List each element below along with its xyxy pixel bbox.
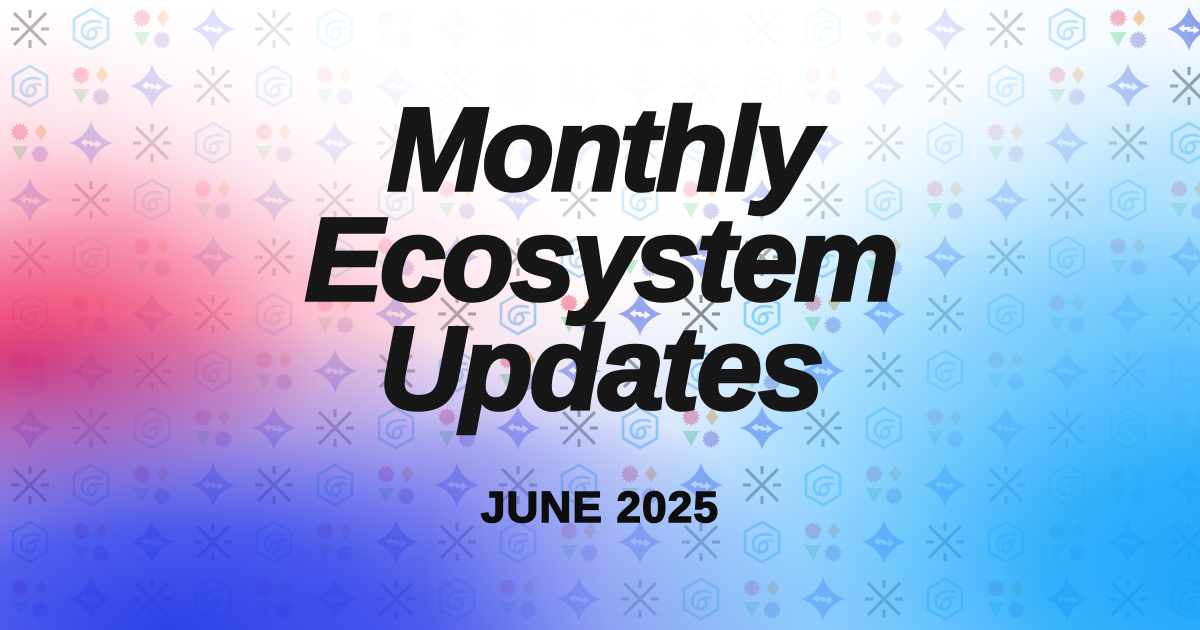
starburst-icon [921, 518, 969, 566]
starburst-icon [250, 461, 298, 509]
starburst-icon [372, 347, 420, 395]
hexagon-spiral-icon [738, 518, 786, 566]
swap-diamond-icon [311, 119, 359, 167]
flower-cluster-icon [128, 5, 176, 53]
flower-cluster-icon [67, 290, 115, 338]
flower-cluster-icon [311, 290, 359, 338]
starburst-icon [799, 176, 847, 224]
swap-diamond-icon [1043, 575, 1091, 623]
hexagon-spiral-icon [1043, 233, 1091, 281]
swap-diamond-icon [1165, 5, 1200, 53]
hexagon-spiral-icon [921, 575, 969, 623]
starburst-icon [982, 233, 1030, 281]
flower-cluster-icon [1104, 461, 1152, 509]
starburst-icon [616, 119, 664, 167]
starburst-icon [494, 5, 542, 53]
hexagon-spiral-icon [1104, 176, 1152, 224]
swap-diamond-icon [67, 119, 115, 167]
starburst-icon [6, 5, 54, 53]
hexagon-spiral-icon [799, 461, 847, 509]
starburst-icon [128, 575, 176, 623]
starburst-icon [677, 62, 725, 110]
swap-diamond-icon [67, 347, 115, 395]
flower-cluster-icon [250, 347, 298, 395]
starburst-icon [860, 119, 908, 167]
flower-cluster-icon [189, 176, 237, 224]
swap-diamond-icon [1104, 290, 1152, 338]
flower-cluster-icon [860, 461, 908, 509]
swap-diamond-icon [738, 404, 786, 452]
flower-cluster-icon [982, 347, 1030, 395]
flower-cluster-icon [555, 290, 603, 338]
starburst-icon [67, 404, 115, 452]
flower-cluster-icon [6, 119, 54, 167]
hexagon-spiral-icon [128, 176, 176, 224]
flower-cluster-icon [738, 347, 786, 395]
swap-diamond-icon [189, 5, 237, 53]
swap-diamond-icon [677, 233, 725, 281]
swap-diamond-icon [494, 176, 542, 224]
flower-cluster-icon [433, 176, 481, 224]
flower-cluster-icon [982, 119, 1030, 167]
swap-diamond-icon [250, 404, 298, 452]
starburst-icon [372, 119, 420, 167]
swap-diamond-icon [616, 62, 664, 110]
swap-diamond-icon [555, 575, 603, 623]
hexagon-spiral-icon [555, 461, 603, 509]
starburst-icon [1165, 62, 1200, 110]
swap-diamond-icon [982, 404, 1030, 452]
flower-cluster-icon [921, 404, 969, 452]
swap-diamond-icon [982, 176, 1030, 224]
hexagon-spiral-icon [67, 461, 115, 509]
flower-cluster-icon [67, 518, 115, 566]
hexagon-spiral-icon [189, 575, 237, 623]
flower-cluster-icon [372, 233, 420, 281]
starburst-icon [738, 233, 786, 281]
starburst-icon [433, 62, 481, 110]
hexagon-spiral-icon [6, 518, 54, 566]
swap-diamond-icon [433, 5, 481, 53]
hexagon-spiral-icon [311, 233, 359, 281]
starburst-icon [6, 233, 54, 281]
flower-cluster-icon [433, 404, 481, 452]
swap-diamond-icon [677, 5, 725, 53]
swap-diamond-icon [128, 518, 176, 566]
starburst-icon [616, 347, 664, 395]
hexagon-spiral-icon [6, 62, 54, 110]
starburst-icon [738, 461, 786, 509]
flower-cluster-icon [799, 290, 847, 338]
flower-cluster-icon [6, 575, 54, 623]
flower-cluster-icon [677, 404, 725, 452]
flower-cluster-icon [921, 176, 969, 224]
swap-diamond-icon [799, 575, 847, 623]
hexagon-spiral-icon [494, 62, 542, 110]
starburst-icon [982, 461, 1030, 509]
starburst-icon [250, 5, 298, 53]
hexagon-spiral-icon [799, 233, 847, 281]
starburst-icon [250, 233, 298, 281]
swap-diamond-icon [372, 290, 420, 338]
swap-diamond-icon [616, 290, 664, 338]
hexagon-spiral-icon [1165, 575, 1200, 623]
starburst-icon [1165, 290, 1200, 338]
swap-diamond-icon [311, 347, 359, 395]
hexagon-spiral-icon [67, 5, 115, 53]
starburst-icon [128, 347, 176, 395]
flower-cluster-icon [372, 461, 420, 509]
hexagon-spiral-icon [494, 290, 542, 338]
hexagon-spiral-icon [372, 404, 420, 452]
flower-cluster-icon [128, 233, 176, 281]
swap-diamond-icon [799, 347, 847, 395]
flower-cluster-icon [1043, 62, 1091, 110]
banner-canvas: Monthly Ecosystem Updates JUNE 2025 [0, 0, 1200, 630]
hexagon-spiral-icon [1104, 404, 1152, 452]
flower-cluster-icon [494, 347, 542, 395]
flower-cluster-icon [189, 404, 237, 452]
swap-diamond-icon [67, 575, 115, 623]
starburst-icon [555, 176, 603, 224]
flower-cluster-icon [799, 518, 847, 566]
flower-cluster-icon [1043, 290, 1091, 338]
swap-diamond-icon [738, 176, 786, 224]
starburst-icon [555, 404, 603, 452]
hexagon-spiral-icon [799, 5, 847, 53]
flower-cluster-icon [1165, 176, 1200, 224]
starburst-icon [372, 575, 420, 623]
swap-diamond-icon [1043, 119, 1091, 167]
flower-cluster-icon [616, 233, 664, 281]
swap-diamond-icon [677, 461, 725, 509]
hexagon-spiral-icon [250, 62, 298, 110]
flower-cluster-icon [799, 62, 847, 110]
flower-cluster-icon [311, 62, 359, 110]
starburst-icon [433, 290, 481, 338]
starburst-icon [677, 290, 725, 338]
hexagon-spiral-icon [860, 404, 908, 452]
starburst-icon [67, 176, 115, 224]
flower-cluster-icon [372, 5, 420, 53]
swap-diamond-icon [799, 119, 847, 167]
hexagon-spiral-icon [433, 347, 481, 395]
hexagon-spiral-icon [738, 290, 786, 338]
swap-diamond-icon [433, 233, 481, 281]
hexagon-spiral-icon [433, 575, 481, 623]
hexagon-spiral-icon [6, 290, 54, 338]
hexagon-spiral-icon [1165, 119, 1200, 167]
hexagon-spiral-icon [982, 62, 1030, 110]
starburst-icon [1104, 575, 1152, 623]
starburst-icon [616, 575, 664, 623]
swap-diamond-icon [921, 233, 969, 281]
starburst-icon [799, 404, 847, 452]
swap-diamond-icon [921, 5, 969, 53]
starburst-icon [311, 404, 359, 452]
flower-cluster-icon [250, 575, 298, 623]
swap-diamond-icon [250, 176, 298, 224]
flower-cluster-icon [860, 5, 908, 53]
hexagon-spiral-icon [311, 5, 359, 53]
hexagon-spiral-icon [1043, 461, 1091, 509]
hexagon-spiral-icon [189, 347, 237, 395]
swap-diamond-icon [921, 461, 969, 509]
flower-cluster-icon [67, 62, 115, 110]
flower-cluster-icon [250, 119, 298, 167]
hexagon-spiral-icon [982, 290, 1030, 338]
flower-cluster-icon [1165, 404, 1200, 452]
starburst-icon [189, 518, 237, 566]
hexagon-spiral-icon [372, 176, 420, 224]
starburst-icon [433, 518, 481, 566]
hexagon-spiral-icon [433, 119, 481, 167]
swap-diamond-icon [372, 518, 420, 566]
hexagon-spiral-icon [189, 119, 237, 167]
hexagon-spiral-icon [311, 461, 359, 509]
hexagon-spiral-icon [677, 347, 725, 395]
flower-cluster-icon [1104, 233, 1152, 281]
swap-diamond-icon [128, 290, 176, 338]
starburst-icon [1043, 404, 1091, 452]
starburst-icon [1043, 176, 1091, 224]
flower-cluster-icon [555, 62, 603, 110]
flower-cluster-icon [738, 119, 786, 167]
flower-cluster-icon [128, 461, 176, 509]
hexagon-spiral-icon [738, 62, 786, 110]
hexagon-spiral-icon [1165, 347, 1200, 395]
swap-diamond-icon [860, 290, 908, 338]
swap-diamond-icon [1104, 518, 1152, 566]
starburst-icon [1104, 119, 1152, 167]
starburst-icon [189, 62, 237, 110]
hexagon-spiral-icon [494, 518, 542, 566]
swap-diamond-icon [555, 119, 603, 167]
flower-cluster-icon [311, 518, 359, 566]
swap-diamond-icon [860, 518, 908, 566]
starburst-icon [311, 176, 359, 224]
hexagon-spiral-icon [616, 404, 664, 452]
flower-cluster-icon [677, 176, 725, 224]
swap-diamond-icon [189, 461, 237, 509]
starburst-icon [1165, 518, 1200, 566]
hexagon-spiral-icon [1043, 5, 1091, 53]
swap-diamond-icon [494, 404, 542, 452]
flower-cluster-icon [616, 5, 664, 53]
hexagon-spiral-icon [616, 176, 664, 224]
flower-cluster-icon [6, 347, 54, 395]
hexagon-spiral-icon [128, 404, 176, 452]
starburst-icon [494, 461, 542, 509]
starburst-icon [189, 290, 237, 338]
flower-cluster-icon [494, 575, 542, 623]
hexagon-spiral-icon [250, 518, 298, 566]
starburst-icon [677, 518, 725, 566]
starburst-icon [738, 5, 786, 53]
starburst-icon [860, 347, 908, 395]
hexagon-spiral-icon [982, 518, 1030, 566]
hexagon-spiral-icon [860, 176, 908, 224]
starburst-icon [1104, 347, 1152, 395]
starburst-icon [860, 575, 908, 623]
hexagon-spiral-icon [250, 290, 298, 338]
swap-diamond-icon [6, 176, 54, 224]
swap-diamond-icon [1165, 461, 1200, 509]
starburst-icon [982, 5, 1030, 53]
swap-diamond-icon [189, 233, 237, 281]
flower-cluster-icon [982, 575, 1030, 623]
hexagon-spiral-icon [555, 5, 603, 53]
flower-cluster-icon [555, 518, 603, 566]
swap-diamond-icon [1043, 347, 1091, 395]
hexagon-spiral-icon [921, 119, 969, 167]
starburst-icon [494, 233, 542, 281]
swap-diamond-icon [860, 62, 908, 110]
starburst-icon [6, 461, 54, 509]
swap-diamond-icon [1165, 233, 1200, 281]
swap-diamond-icon [1104, 62, 1152, 110]
flower-cluster-icon [738, 575, 786, 623]
hexagon-spiral-icon [677, 575, 725, 623]
hexagon-spiral-icon [921, 347, 969, 395]
flower-cluster-icon [494, 119, 542, 167]
starburst-icon [921, 290, 969, 338]
hexagon-spiral-icon [555, 233, 603, 281]
hexagon-spiral-icon [67, 233, 115, 281]
hexagon-spiral-icon [677, 119, 725, 167]
flower-cluster-icon [860, 233, 908, 281]
starburst-icon [921, 62, 969, 110]
flower-cluster-icon [1043, 518, 1091, 566]
swap-diamond-icon [311, 575, 359, 623]
swap-diamond-icon [128, 62, 176, 110]
starburst-icon [128, 119, 176, 167]
flower-cluster-icon [616, 461, 664, 509]
swap-diamond-icon [372, 62, 420, 110]
swap-diamond-icon [616, 518, 664, 566]
flower-cluster-icon [1104, 5, 1152, 53]
swap-diamond-icon [6, 404, 54, 452]
swap-diamond-icon [555, 347, 603, 395]
icon-pattern-background [0, 0, 1200, 630]
swap-diamond-icon [433, 461, 481, 509]
